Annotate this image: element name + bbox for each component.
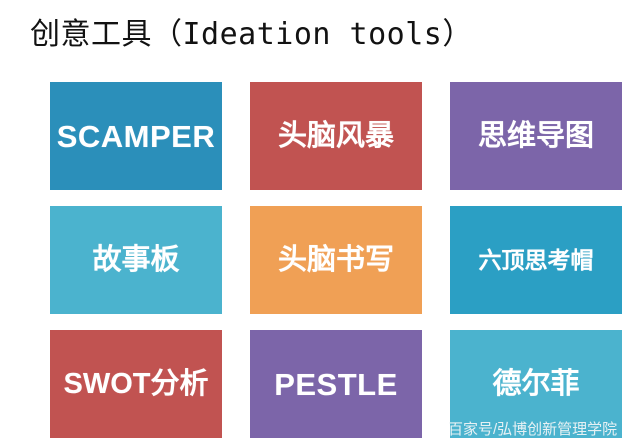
tile-label: SCAMPER bbox=[57, 121, 216, 152]
tile-scamper[interactable]: SCAMPER bbox=[50, 82, 222, 190]
tile-storyboard[interactable]: 故事板 bbox=[50, 206, 222, 314]
tile-label: 头脑风暴 bbox=[278, 122, 394, 151]
tile-mind-map[interactable]: 思维导图 bbox=[450, 82, 622, 190]
tile-label: 德尔菲 bbox=[492, 370, 579, 399]
tile-label: 故事板 bbox=[92, 246, 179, 275]
tile-label: PESTLE bbox=[274, 369, 398, 400]
tile-brainstorming[interactable]: 头脑风暴 bbox=[250, 82, 422, 190]
tile-label: SWOT分析 bbox=[64, 370, 209, 399]
tile-label: 六顶思考帽 bbox=[479, 249, 594, 272]
tile-swot-analysis[interactable]: SWOT分析 bbox=[50, 330, 222, 438]
tile-pestle[interactable]: PESTLE bbox=[250, 330, 422, 438]
ideation-tools-grid: SCAMPER 头脑风暴 思维导图 故事板 头脑书写 六顶思考帽 SWOT分析 … bbox=[50, 82, 622, 438]
page-title: 创意工具（Ideation tools） bbox=[30, 17, 473, 53]
tile-six-thinking-hats[interactable]: 六顶思考帽 bbox=[450, 206, 622, 314]
tile-delphi[interactable]: 德尔菲 bbox=[450, 330, 622, 438]
title-bar: 创意工具（Ideation tools） bbox=[30, 6, 630, 64]
slide-canvas: 创意工具（Ideation tools） SCAMPER 头脑风暴 思维导图 故… bbox=[0, 0, 640, 443]
tile-label: 头脑书写 bbox=[278, 246, 394, 275]
tile-label: 思维导图 bbox=[478, 122, 594, 151]
tile-brainwriting[interactable]: 头脑书写 bbox=[250, 206, 422, 314]
